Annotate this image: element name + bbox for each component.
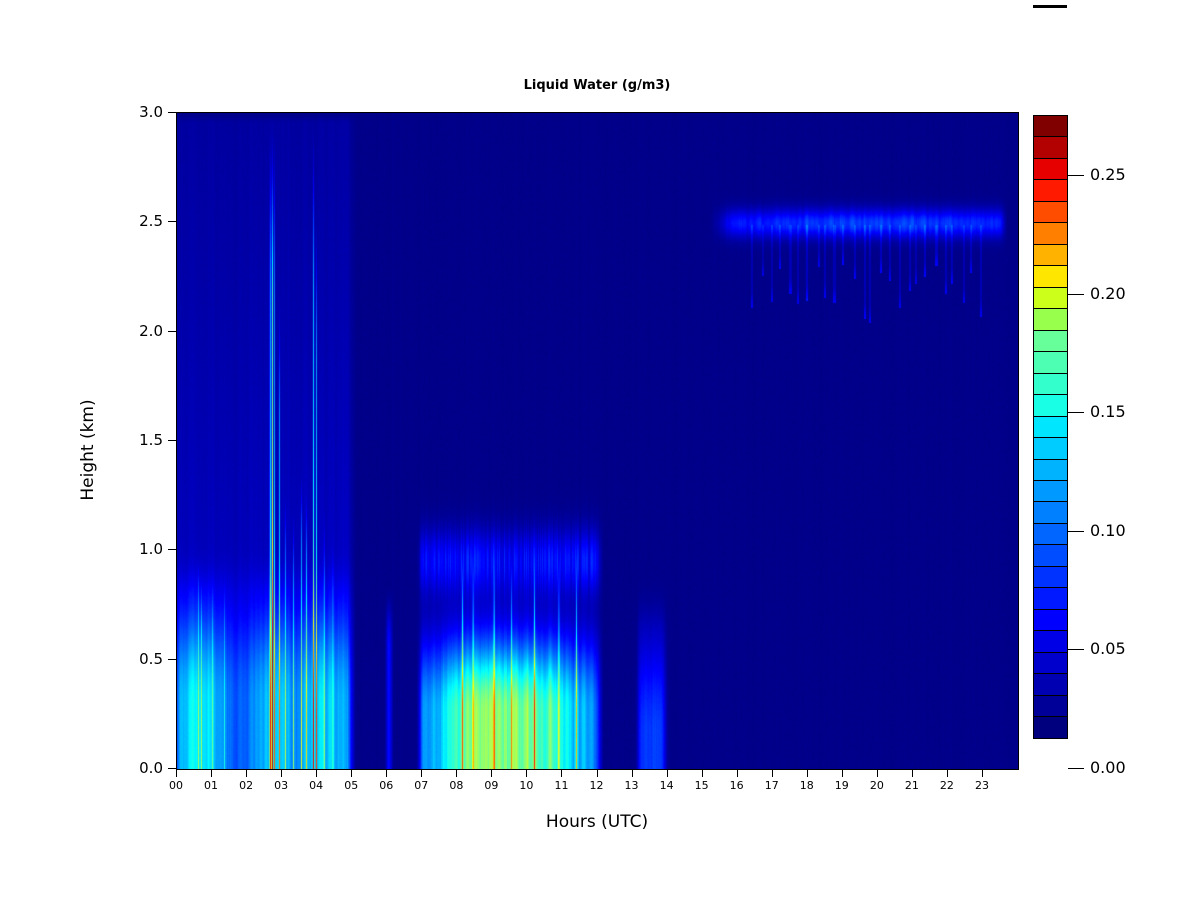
- y-tick-mark: [168, 768, 176, 769]
- y-tick-label: 0.5: [103, 650, 163, 668]
- y-tick-label: 3.0: [103, 103, 163, 121]
- colorbar-tick-label: 0.15: [1090, 402, 1126, 421]
- x-tick-mark: [246, 769, 247, 777]
- colorbar-tick-label: 0.25: [1090, 165, 1126, 184]
- x-tick-label: 12: [577, 779, 617, 792]
- colorbar-cell: [1033, 222, 1068, 244]
- x-tick-mark: [842, 769, 843, 777]
- colorbar-tick-label: 0.10: [1090, 521, 1126, 540]
- colorbar: [1033, 116, 1068, 768]
- colorbar-cell: [1033, 330, 1068, 352]
- x-tick-label: 23: [962, 779, 1002, 792]
- x-axis-label: Hours (UTC): [176, 812, 1018, 832]
- x-tick-label: 19: [822, 779, 862, 792]
- colorbar-cell: [1033, 244, 1068, 266]
- colorbar-cell: [1033, 480, 1068, 502]
- colorbar-tick-mark: [1068, 649, 1084, 650]
- colorbar-cell: [1033, 201, 1068, 223]
- x-tick-label: 03: [261, 779, 301, 792]
- x-tick-label: 00: [156, 779, 196, 792]
- colorbar-tick-label: 0.20: [1090, 284, 1126, 303]
- colorbar-tick-mark: [1068, 412, 1084, 413]
- colorbar-cell: [1033, 287, 1068, 309]
- colorbar-cell: [1033, 673, 1068, 695]
- colorbar-tick-mark: [1068, 294, 1084, 295]
- x-tick-label: 10: [506, 779, 546, 792]
- colorbar-cell: [1033, 308, 1068, 330]
- x-tick-label: 02: [226, 779, 266, 792]
- x-tick-label: 18: [787, 779, 827, 792]
- x-tick-label: 11: [541, 779, 581, 792]
- colorbar-cell: [1033, 351, 1068, 373]
- colorbar-tick-mark: [1068, 175, 1084, 176]
- y-tick-mark: [168, 440, 176, 441]
- x-tick-label: 17: [752, 779, 792, 792]
- top-edge-artifact: [1033, 5, 1067, 8]
- colorbar-tick-mark: [1068, 768, 1084, 769]
- colorbar-cell: [1033, 394, 1068, 416]
- colorbar-tick-label: 0.05: [1090, 639, 1126, 658]
- x-tick-mark: [456, 769, 457, 777]
- x-tick-mark: [772, 769, 773, 777]
- colorbar-cell: [1033, 587, 1068, 609]
- colorbar-cell: [1033, 609, 1068, 631]
- colorbar-cell: [1033, 716, 1068, 738]
- colorbar-cell: [1033, 373, 1068, 395]
- x-tick-mark: [176, 769, 177, 777]
- colorbar-cell: [1033, 136, 1068, 158]
- x-tick-mark: [281, 769, 282, 777]
- x-tick-mark: [491, 769, 492, 777]
- colorbar-cell: [1033, 695, 1068, 717]
- x-tick-mark: [561, 769, 562, 777]
- y-tick-label: 2.0: [103, 322, 163, 340]
- x-tick-label: 06: [366, 779, 406, 792]
- x-tick-label: 05: [331, 779, 371, 792]
- heatmap-plot-area: [176, 112, 1019, 770]
- x-tick-mark: [316, 769, 317, 777]
- x-tick-mark: [702, 769, 703, 777]
- x-tick-mark: [877, 769, 878, 777]
- x-tick-mark: [211, 769, 212, 777]
- y-tick-label: 1.0: [103, 540, 163, 558]
- x-tick-label: 15: [682, 779, 722, 792]
- x-tick-mark: [737, 769, 738, 777]
- x-tick-label: 09: [471, 779, 511, 792]
- x-tick-mark: [597, 769, 598, 777]
- y-axis-label: Height (km): [78, 350, 98, 550]
- liquid-water-figure: Liquid Water (g/m3) 00010203040506070809…: [0, 0, 1200, 900]
- x-tick-mark: [807, 769, 808, 777]
- colorbar-tick-mark: [1068, 531, 1084, 532]
- x-tick-label: 21: [892, 779, 932, 792]
- colorbar-cell: [1033, 630, 1068, 652]
- colorbar-cell: [1033, 523, 1068, 545]
- x-tick-mark: [667, 769, 668, 777]
- y-tick-mark: [168, 659, 176, 660]
- colorbar-cell: [1033, 544, 1068, 566]
- colorbar-cell: [1033, 115, 1068, 137]
- y-tick-mark: [168, 221, 176, 222]
- x-tick-mark: [351, 769, 352, 777]
- y-tick-mark: [168, 331, 176, 332]
- x-tick-label: 16: [717, 779, 757, 792]
- x-tick-mark: [912, 769, 913, 777]
- x-tick-mark: [526, 769, 527, 777]
- x-tick-label: 13: [612, 779, 652, 792]
- x-tick-label: 07: [401, 779, 441, 792]
- x-tick-mark: [386, 769, 387, 777]
- colorbar-cell: [1033, 158, 1068, 180]
- x-tick-mark: [947, 769, 948, 777]
- y-tick-mark: [168, 112, 176, 113]
- colorbar-cell: [1033, 437, 1068, 459]
- y-tick-label: 2.5: [103, 212, 163, 230]
- colorbar-cell: [1033, 265, 1068, 287]
- x-tick-label: 04: [296, 779, 336, 792]
- x-tick-mark: [421, 769, 422, 777]
- x-tick-mark: [982, 769, 983, 777]
- x-tick-label: 14: [647, 779, 687, 792]
- colorbar-tick-label: 0.00: [1090, 758, 1126, 777]
- x-tick-mark: [632, 769, 633, 777]
- y-tick-mark: [168, 549, 176, 550]
- x-tick-label: 08: [436, 779, 476, 792]
- page-title: Liquid Water (g/m3): [176, 78, 1018, 93]
- colorbar-cell: [1033, 179, 1068, 201]
- colorbar-cell: [1033, 416, 1068, 438]
- y-tick-label: 1.5: [103, 431, 163, 449]
- colorbar-cell: [1033, 566, 1068, 588]
- colorbar-cell: [1033, 459, 1068, 481]
- x-tick-label: 22: [927, 779, 967, 792]
- colorbar-cell: [1033, 501, 1068, 523]
- x-tick-label: 01: [191, 779, 231, 792]
- y-tick-label: 0.0: [103, 759, 163, 777]
- x-tick-label: 20: [857, 779, 897, 792]
- colorbar-cell: [1033, 652, 1068, 674]
